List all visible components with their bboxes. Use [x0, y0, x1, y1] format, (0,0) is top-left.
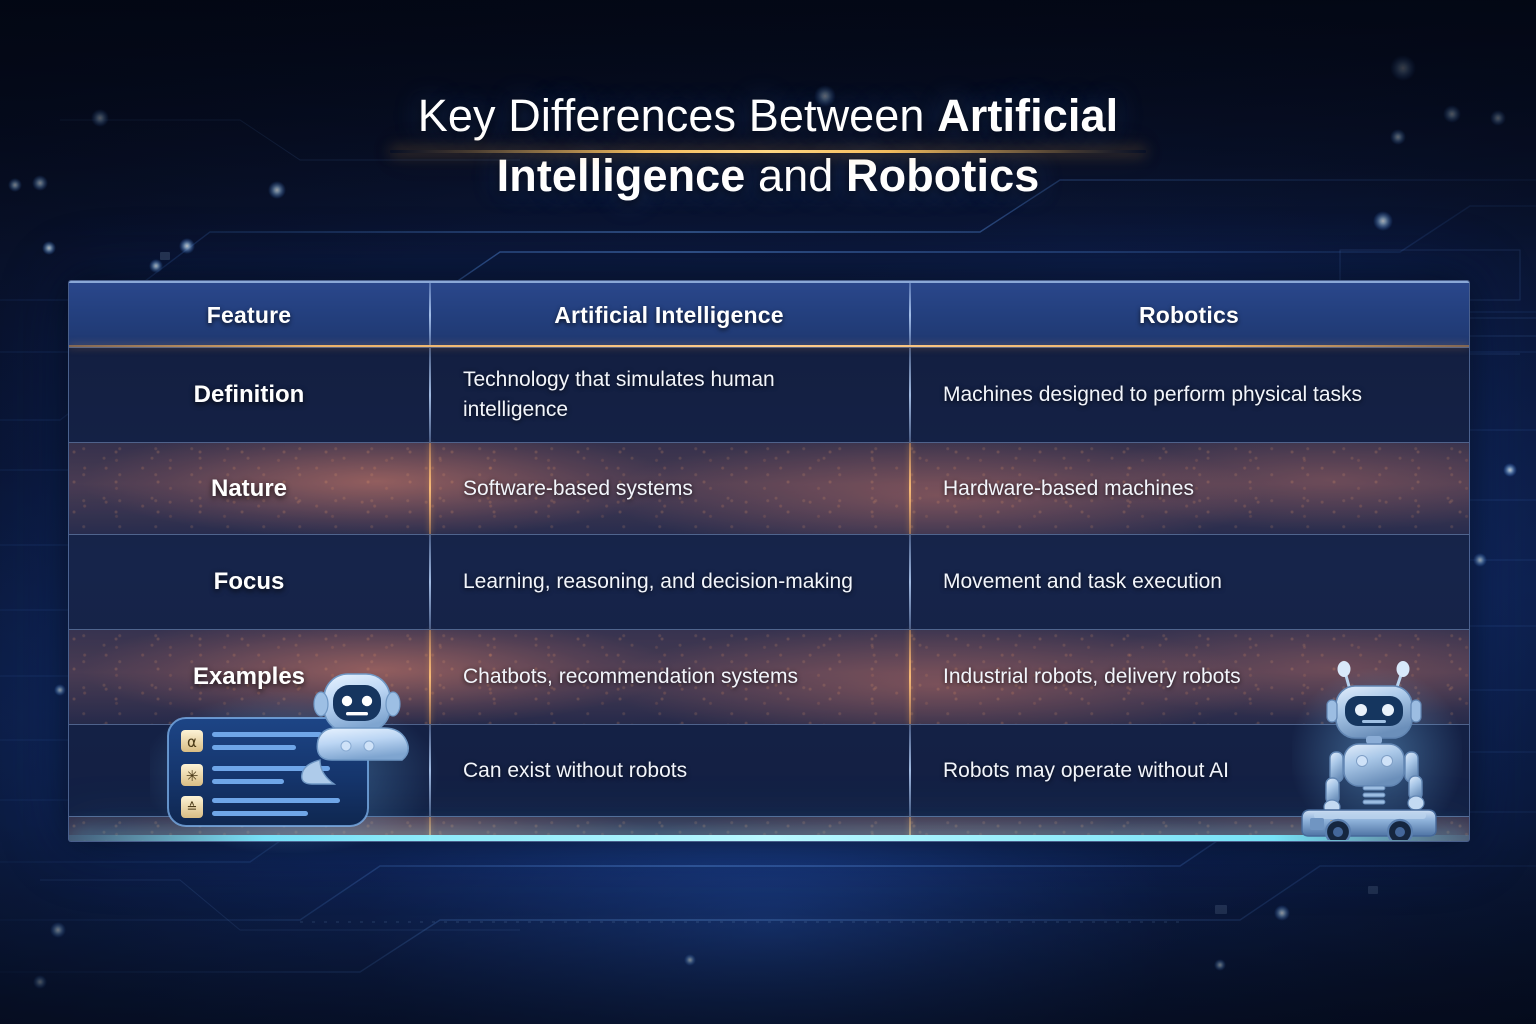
column-divider-1: [429, 725, 431, 816]
table-header-row: Feature Artificial Intelligence Robotics: [69, 281, 1469, 347]
row-ai-value: Chatbots, recommendation systems: [429, 630, 909, 724]
row-robotics-value: Machines designed to perform physical ta…: [909, 348, 1469, 442]
title-part-2: Artificial: [937, 90, 1118, 141]
row-robotics-value: Hardware-based machines: [909, 443, 1469, 534]
column-divider-2: [909, 725, 911, 816]
row-ai-value: Can exist without robots: [429, 725, 909, 816]
title-part-5: Robotics: [846, 150, 1039, 201]
column-divider-1: [429, 283, 431, 347]
header-cell-ai: Artificial Intelligence: [429, 283, 909, 347]
infographic-canvas: Key Differences Between ArtificialIntell…: [0, 0, 1536, 1024]
table-bottom-glow: [69, 835, 1469, 841]
column-divider-1: [429, 348, 431, 442]
row-ai-value: Learning, reasoning, and decision-making: [429, 535, 909, 629]
comparison-table: Feature Artificial Intelligence Robotics…: [68, 280, 1470, 842]
row-robotics-value: Movement and task execution: [909, 535, 1469, 629]
row-feature-label: Definition: [69, 348, 429, 442]
title-part-4: and: [745, 150, 846, 201]
row-ai-value: Software-based systems: [429, 443, 909, 534]
title-block: Key Differences Between ArtificialIntell…: [0, 86, 1536, 206]
header-accent-rule: [69, 345, 1469, 347]
column-divider-1: [429, 443, 431, 534]
header-cell-robotics: Robotics: [909, 283, 1469, 347]
row-feature-label: Focus: [69, 535, 429, 629]
row-robotics-value: Robots may operate without AI: [909, 725, 1469, 816]
row-feature-label: [69, 725, 429, 816]
table-row: Focus Learning, reasoning, and decision-…: [69, 534, 1469, 629]
table-row: Examples Chatbots, recommendation system…: [69, 629, 1469, 724]
column-divider-2: [909, 283, 911, 347]
row-feature-label: Examples: [69, 630, 429, 724]
table-row: Can exist without robots Robots may oper…: [69, 724, 1469, 816]
page-title: Key Differences Between ArtificialIntell…: [0, 86, 1536, 206]
header-cell-feature: Feature: [69, 283, 429, 347]
title-part-1: Key Differences Between: [418, 90, 937, 141]
row-ai-value: Technology that simulates human intellig…: [429, 348, 909, 442]
row-feature-label: Nature: [69, 443, 429, 534]
row-robotics-value: Industrial robots, delivery robots: [909, 630, 1469, 724]
table-row: Definition Technology that simulates hum…: [69, 347, 1469, 442]
table-row: Nature Software-based systems Hardware-b…: [69, 442, 1469, 534]
column-divider-2: [909, 443, 911, 534]
column-divider-2: [909, 535, 911, 629]
column-divider-1: [429, 535, 431, 629]
title-divider-rule: [390, 150, 1146, 153]
title-part-3: Intelligence: [497, 150, 746, 201]
column-divider-2: [909, 630, 911, 724]
column-divider-2: [909, 348, 911, 442]
column-divider-1: [429, 630, 431, 724]
